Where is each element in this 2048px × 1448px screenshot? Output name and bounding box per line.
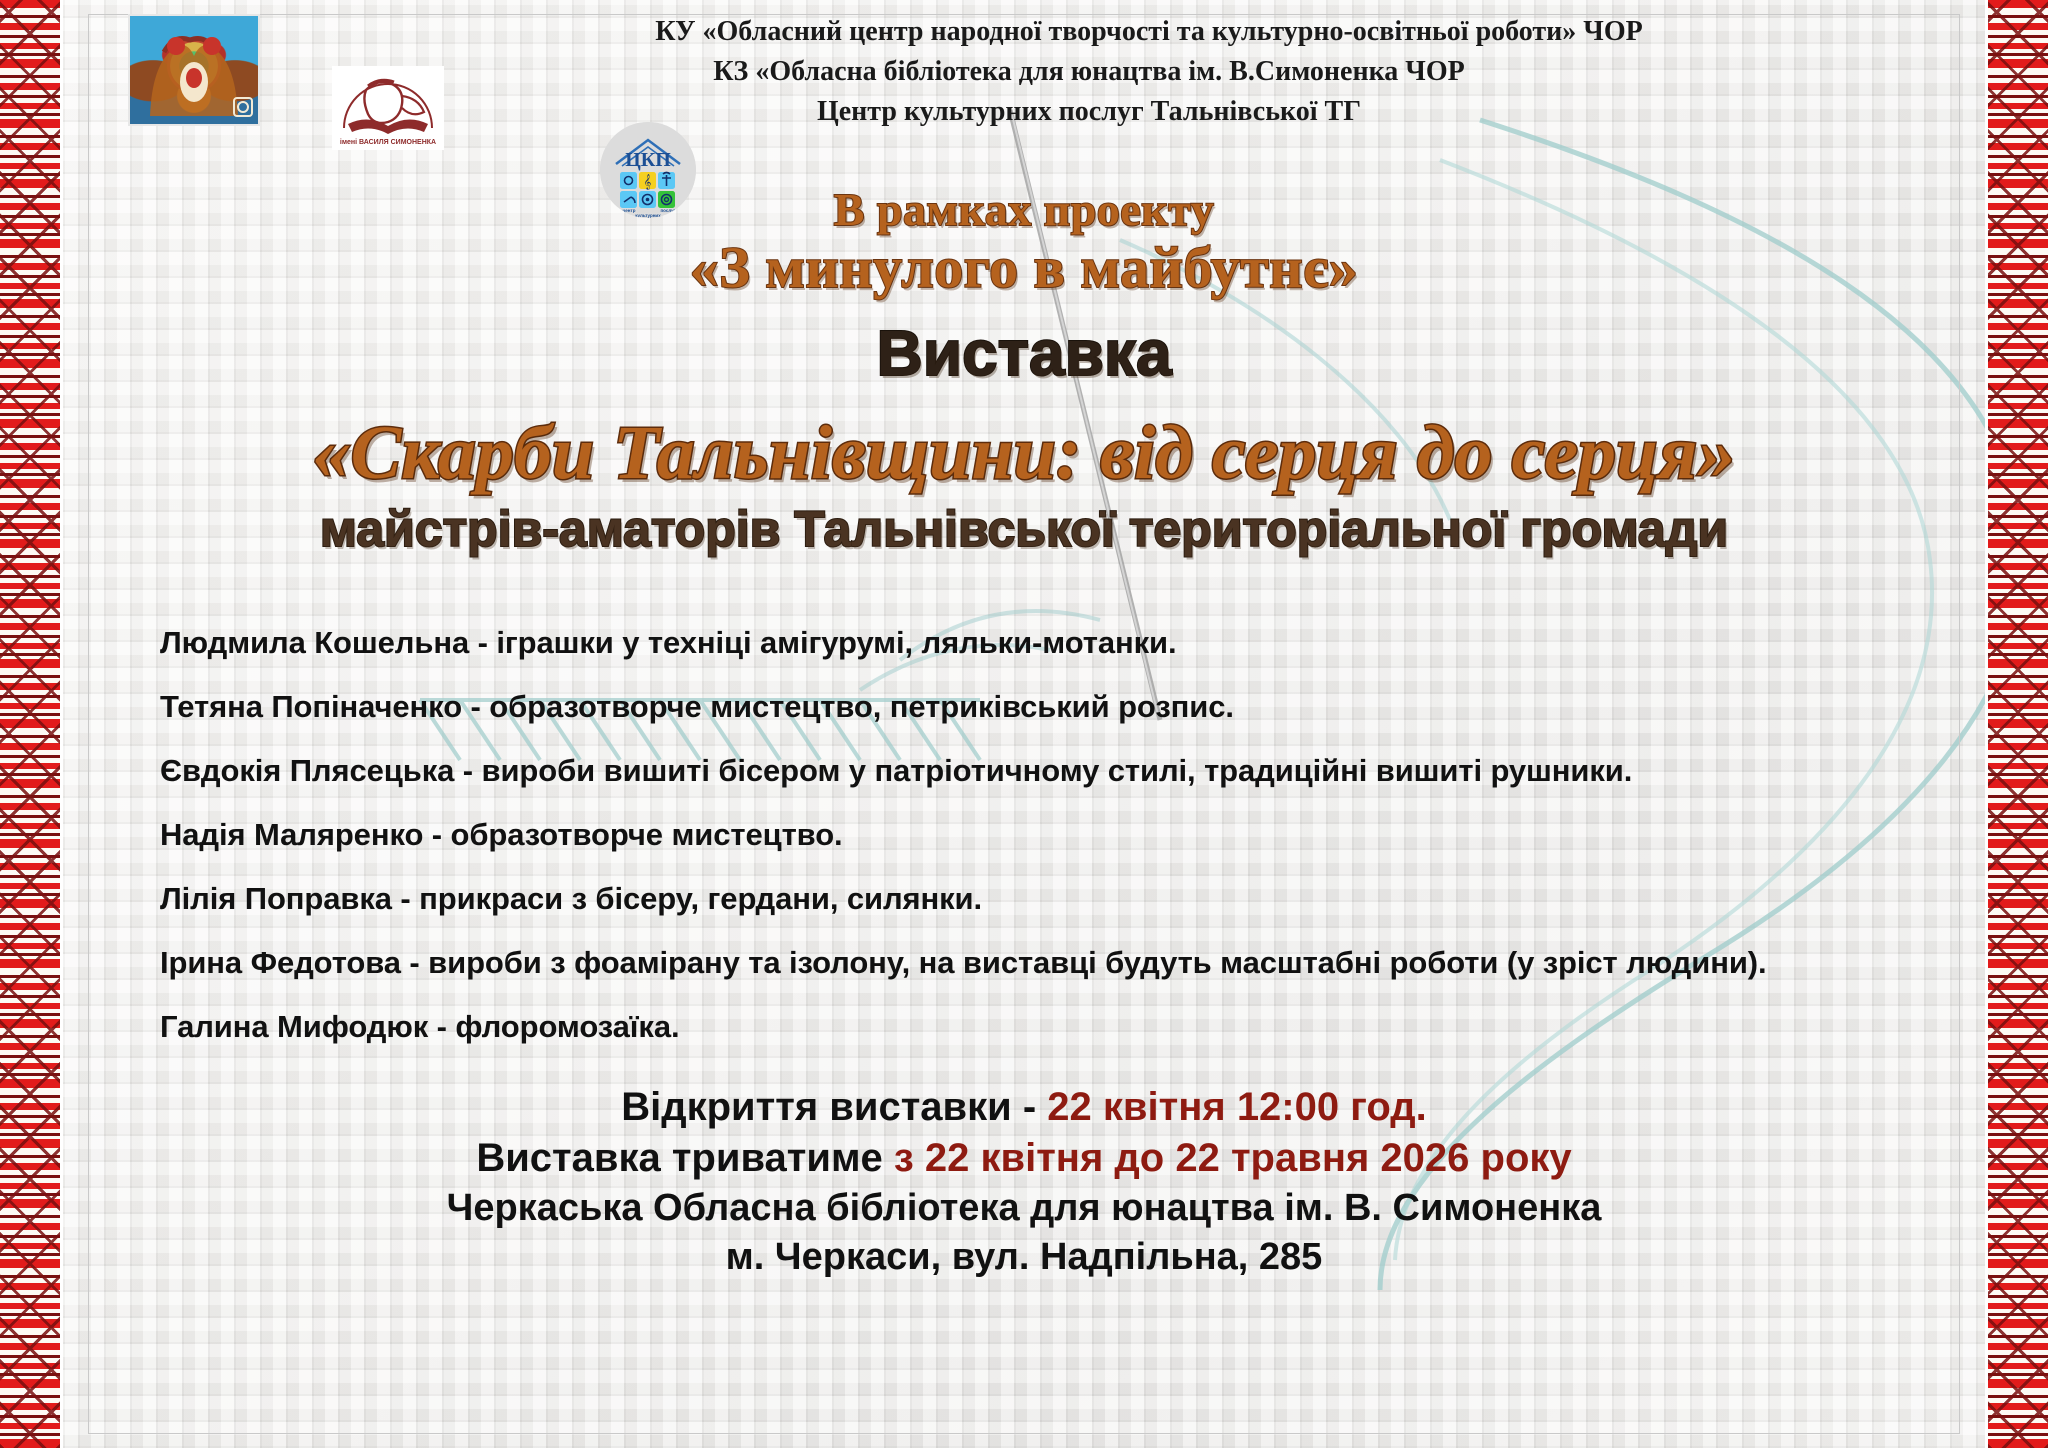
embroidery-border-right-edge — [1985, 0, 1988, 1448]
opening-line: Відкриття виставки - 22 квітня 12:00 год… — [100, 1082, 1948, 1133]
venue-line: Черкаська Обласна бібліотека для юнацтва… — [100, 1184, 1948, 1233]
opening-label: Відкриття виставки - — [621, 1085, 1047, 1129]
svg-text:імені ВАСИЛЯ СИМОНЕНКА: імені ВАСИЛЯ СИМОНЕНКА — [340, 138, 436, 146]
list-item: Галина Мифодюк - флоромозаїка. — [160, 1011, 1948, 1042]
event-type-heading: Виставка — [100, 316, 1948, 390]
folk-art-painting-logo-icon — [128, 14, 260, 126]
organizers-block: КУ «Обласний центр народної творчості та… — [350, 12, 1948, 131]
organizer-line-1: КУ «Обласний центр народної творчості та… — [350, 12, 1948, 52]
poster-content: імені ВАСИЛЯ СИМОНЕНКА ЦКП — [0, 0, 2048, 1282]
ckp-logo-icon: ЦКП 𝄞 — [600, 122, 696, 218]
organizer-line-3: Центр культурних послуг Тальнівської ТГ — [350, 92, 1948, 132]
list-item: Людмила Кошельна - іграшки у техніці амі… — [160, 627, 1948, 658]
svg-text:ЦКП: ЦКП — [625, 149, 671, 171]
address-line: м. Черкаси, вул. Надпільна, 285 — [100, 1233, 1948, 1282]
embroidery-diamond-pattern — [0, 0, 60, 1448]
list-item: Євдокія Плясецька - вироби вишиті бісеро… — [160, 755, 1948, 786]
svg-text:центр: центр — [623, 208, 636, 213]
embroidery-diamond-pattern — [1988, 0, 2048, 1448]
list-item: Тетяна Попіначенко - образотворче мистец… — [160, 691, 1948, 722]
page-title: «Скарби Тальнівщини: від серця до серця» — [100, 412, 1948, 496]
project-line-2: «З минулого в майбутнє» — [100, 236, 1948, 301]
list-item: Ірина Федотова - вироби з фоамірану та і… — [160, 947, 1948, 978]
list-item: Лілія Поправка - прикраси з бісеру, герд… — [160, 883, 1948, 914]
project-line-1: В рамках проекту — [100, 184, 1948, 236]
list-item: Надія Маляренко - образотворче мистецтво… — [160, 819, 1948, 850]
participants-list: Людмила Кошельна - іграшки у техніці амі… — [100, 627, 1948, 1042]
poster-footer: Відкриття виставки - 22 квітня 12:00 год… — [100, 1082, 1948, 1282]
poster-root: імені ВАСИЛЯ СИМОНЕНКА ЦКП — [0, 0, 2048, 1448]
embroidery-border-left — [0, 0, 60, 1448]
duration-line: Виставка триватиме з 22 квітня до 22 тра… — [100, 1133, 1948, 1184]
opening-value: 22 квітня 12:00 год. — [1047, 1085, 1427, 1129]
organizer-line-2: КЗ «Обласна бібліотека для юнацтва ім. В… — [350, 52, 1948, 92]
poster-header: імені ВАСИЛЯ СИМОНЕНКА ЦКП — [100, 0, 1948, 180]
embroidery-border-left-edge — [60, 0, 63, 1448]
duration-value: з 22 квітня до 22 травня 2026 року — [894, 1136, 1572, 1180]
duration-label: Виставка триватиме — [476, 1136, 894, 1180]
embroidery-border-right — [1988, 0, 2048, 1448]
project-banner: В рамках проекту «З минулого в майбутнє» — [100, 184, 1948, 300]
page-subtitle: майстрів-аматорів Тальнівської територіа… — [100, 502, 1948, 557]
svg-text:𝄞: 𝄞 — [644, 174, 652, 190]
